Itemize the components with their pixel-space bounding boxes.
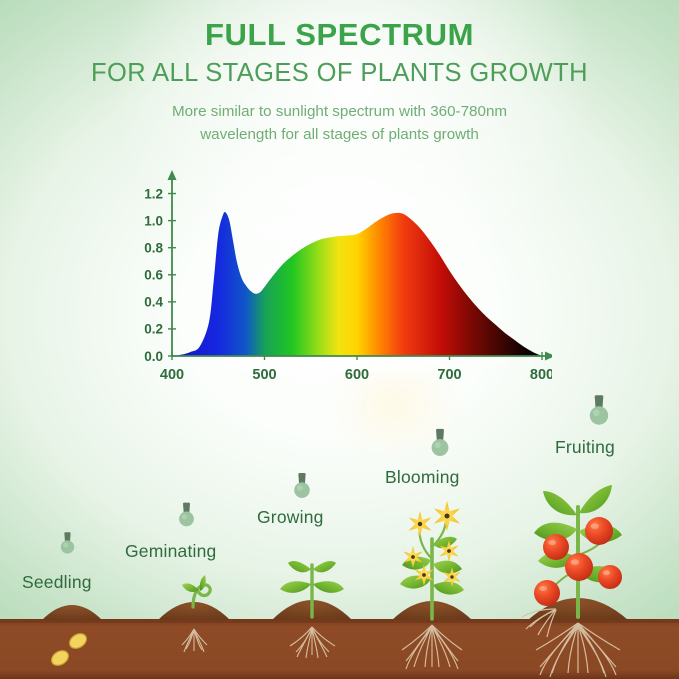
- grow-light-bulb-icon-fruiting: [586, 392, 612, 428]
- stage-label-blooming: Blooming: [385, 467, 460, 488]
- stage-label-seedling: Seedling: [22, 572, 92, 593]
- description-line-2: wavelength for all stages of plants grow…: [200, 126, 479, 143]
- bulb-icon: [58, 530, 77, 556]
- bulb-icon: [176, 500, 197, 529]
- y-axis-tick-label: 1.2: [144, 186, 163, 201]
- header: FULL SPECTRUM FOR ALL STAGES OF PLANTS G…: [0, 18, 679, 146]
- grow-light-bulb-icon-growing: [291, 470, 313, 501]
- fruit: [585, 517, 613, 545]
- bulb-icon: [586, 392, 612, 428]
- leaf: [433, 561, 462, 574]
- leaf: [313, 581, 344, 593]
- sprout-leaf: [182, 583, 199, 592]
- stage-label-fruiting: Fruiting: [555, 437, 615, 458]
- leaf: [288, 561, 311, 572]
- sprout-leaf: [200, 575, 206, 591]
- stage-blooming-plant: [400, 501, 464, 669]
- flower: [434, 501, 460, 531]
- spectrum-area-curve: [172, 212, 542, 356]
- y-axis-tick-label: 0.8: [144, 240, 163, 255]
- leaf: [579, 485, 612, 513]
- description-text: More similar to sunlight spectrum with 3…: [0, 100, 679, 146]
- y-axis-tick-label: 0.0: [144, 349, 163, 364]
- leaf: [280, 581, 311, 593]
- grow-light-bulb-icon-geminating: [176, 500, 197, 529]
- grow-light-bulb-icon-seedling: [58, 530, 77, 556]
- stage-label-geminating: Geminating: [125, 541, 217, 562]
- bulb-icon: [291, 470, 313, 501]
- fruit: [534, 580, 560, 606]
- bulb-icon: [428, 426, 452, 459]
- growth-stages-scene: SeedlingGeminatingGrowingBloomingFruitin…: [0, 379, 679, 679]
- infographic-root: FULL SPECTRUM FOR ALL STAGES OF PLANTS G…: [0, 0, 679, 679]
- leaf: [313, 561, 336, 572]
- stage-label-growing: Growing: [257, 507, 324, 528]
- spectrum-chart: 0.00.20.40.60.81.01.2 400500600700800: [128, 168, 552, 393]
- y-axis-tick-label: 0.6: [144, 268, 163, 283]
- y-axis-tick-label: 1.0: [144, 213, 163, 228]
- description-line-1: More similar to sunlight spectrum with 3…: [172, 103, 507, 120]
- flower-stalk: [420, 527, 432, 559]
- fruit: [598, 565, 622, 589]
- grow-light-bulb-icon-blooming: [428, 426, 452, 459]
- y-axis-tick-label: 0.2: [144, 322, 163, 337]
- y-axis-labels: 0.00.20.40.60.81.01.2: [144, 186, 163, 363]
- scene-svg: [0, 379, 679, 679]
- leaf: [433, 582, 464, 595]
- y-axis-tick-label: 0.4: [144, 295, 163, 310]
- fruit: [565, 553, 593, 581]
- fruit: [543, 534, 569, 560]
- page-subtitle-headline: FOR ALL STAGES OF PLANTS GROWTH: [0, 58, 679, 90]
- mound-seedling: [42, 605, 102, 620]
- page-title: FULL SPECTRUM: [0, 18, 679, 52]
- spectrum-chart-svg: 0.00.20.40.60.81.01.2 400500600700800: [128, 168, 552, 393]
- leaf: [543, 491, 577, 515]
- flower: [409, 511, 432, 537]
